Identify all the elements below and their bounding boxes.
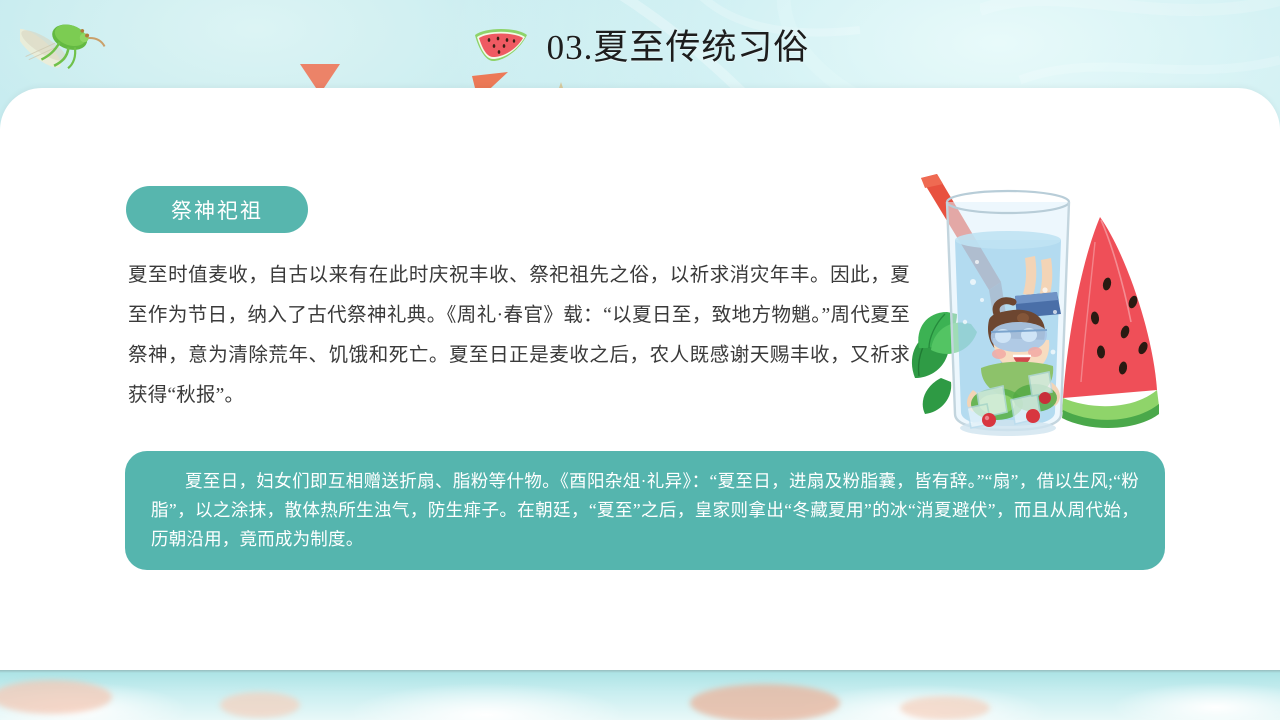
water-footer-decor xyxy=(0,670,1280,720)
callout-text: 夏至日，妇女们即互相赠送折扇、脂粉等什物。《酉阳杂俎·礼异》：“夏至日，进扇及粉… xyxy=(151,467,1139,554)
slide-canvas: 03.夏至传统习俗 祭神祀祖 夏至时值麦收，自古以来有在此时庆祝丰收、祭祀祖先之… xyxy=(0,0,1280,720)
section-heading-pill: 祭神祀祖 xyxy=(126,186,308,233)
watermelon-slice-icon xyxy=(471,25,531,67)
summer-drink-illustration xyxy=(885,162,1175,437)
watermelon-wedge-icon xyxy=(1062,217,1159,428)
water-skin-1 xyxy=(0,680,112,714)
section-paragraph: 夏至时值麦收，自古以来有在此时庆祝丰收、祭祀祖先之俗，以祈求消灾年丰。因此，夏至… xyxy=(128,256,910,416)
water-skin-3 xyxy=(690,684,840,720)
water-skin-2 xyxy=(220,692,300,718)
water-skin-4 xyxy=(900,696,990,720)
page-title: 03.夏至传统习俗 xyxy=(547,19,810,70)
callout-box: 夏至日，妇女们即互相赠送折扇、脂粉等什物。《酉阳杂俎·礼异》：“夏至日，进扇及粉… xyxy=(125,451,1165,570)
slide-header: 03.夏至传统习俗 xyxy=(0,0,1280,88)
section-heading-label: 祭神祀祖 xyxy=(171,195,263,225)
glass-of-water-icon xyxy=(947,191,1069,436)
